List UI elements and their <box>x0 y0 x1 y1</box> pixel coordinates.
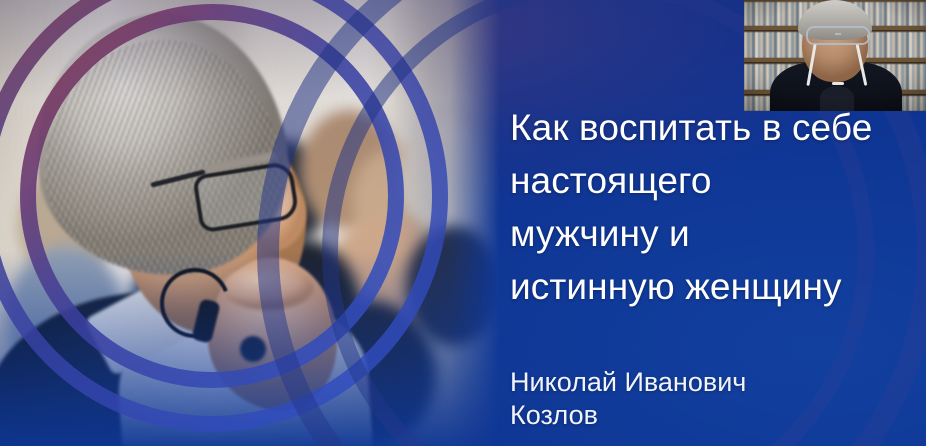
speaker-name: Николай Иванович Козлов <box>510 366 910 432</box>
slide-title-line: мужчину и <box>510 207 922 260</box>
slide-title: Как воспитать в себе настоящего мужчину … <box>510 101 922 313</box>
slide-title-line: истинную женщину <box>510 260 922 313</box>
webcam-vignette <box>744 0 926 111</box>
slide-title-line: настоящего <box>510 154 922 207</box>
webcam-pip[interactable] <box>744 0 926 111</box>
presentation-slide: Как воспитать в себе настоящего мужчину … <box>0 0 926 446</box>
speaker-name-line: Николай Иванович <box>510 366 910 399</box>
speaker-name-line: Козлов <box>510 399 910 432</box>
photo-color-grade <box>0 0 500 446</box>
speaker-photo <box>0 0 500 446</box>
